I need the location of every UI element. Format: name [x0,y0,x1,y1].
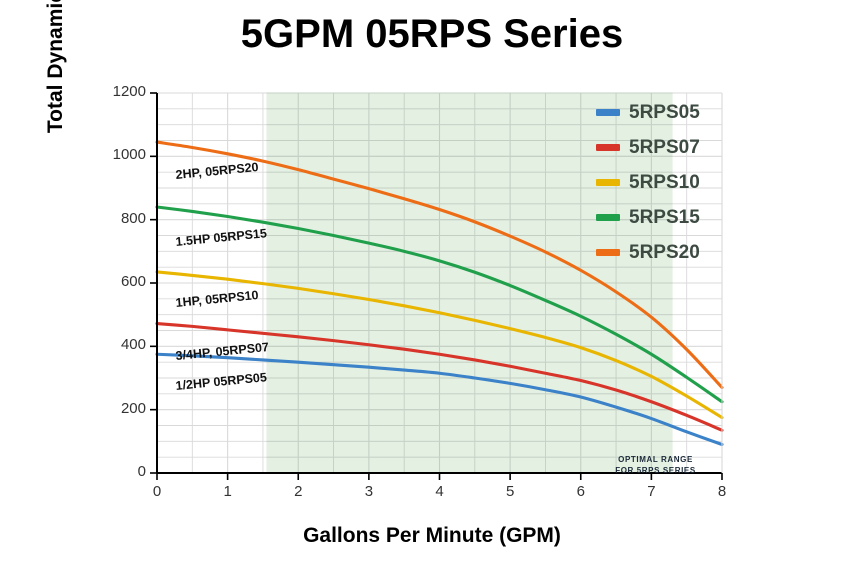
x-tick-label: 8 [707,483,737,500]
legend-label: 5RPS20 [629,242,700,264]
x-tick-label: 2 [283,483,313,500]
y-tick-label: 600 [98,273,146,290]
x-tick-label: 3 [354,483,384,500]
x-tick-label: 7 [636,483,666,500]
y-tick-label: 400 [98,336,146,353]
x-tick-label: 0 [142,483,172,500]
legend-swatch-5RPS05 [596,109,620,116]
y-tick-label: 800 [98,210,146,227]
y-tick-label: 0 [98,463,146,480]
y-tick-label: 1200 [98,83,146,100]
legend-label: 5RPS07 [629,137,700,159]
chart-container: 5GPM 05RPS Series Total Dynamic Head (Fe… [0,0,864,570]
x-tick-label: 4 [425,483,455,500]
legend-swatch-5RPS20 [596,249,620,256]
y-tick-label: 1000 [98,146,146,163]
chart-legend: 5RPS055RPS075RPS105RPS155RPS20 [596,95,756,270]
legend-item-5RPS07[interactable]: 5RPS07 [596,130,756,165]
optimal-range-line1: OPTIMAL RANGE [613,454,699,465]
legend-swatch-5RPS10 [596,179,620,186]
legend-item-5RPS15[interactable]: 5RPS15 [596,200,756,235]
y-tick-label: 200 [98,400,146,417]
optimal-range-note: OPTIMAL RANGE FOR 5RPS SERIES [613,454,699,476]
legend-swatch-5RPS15 [596,214,620,221]
x-tick-label: 5 [495,483,525,500]
x-tick-label: 6 [566,483,596,500]
legend-label: 5RPS10 [629,172,700,194]
legend-swatch-5RPS07 [596,144,620,151]
legend-item-5RPS10[interactable]: 5RPS10 [596,165,756,200]
x-tick-label: 1 [213,483,243,500]
optimal-range-line2: FOR 5RPS SERIES [613,465,699,476]
legend-item-5RPS05[interactable]: 5RPS05 [596,95,756,130]
legend-item-5RPS20[interactable]: 5RPS20 [596,235,756,270]
legend-label: 5RPS05 [629,102,700,124]
legend-label: 5RPS15 [629,207,700,229]
